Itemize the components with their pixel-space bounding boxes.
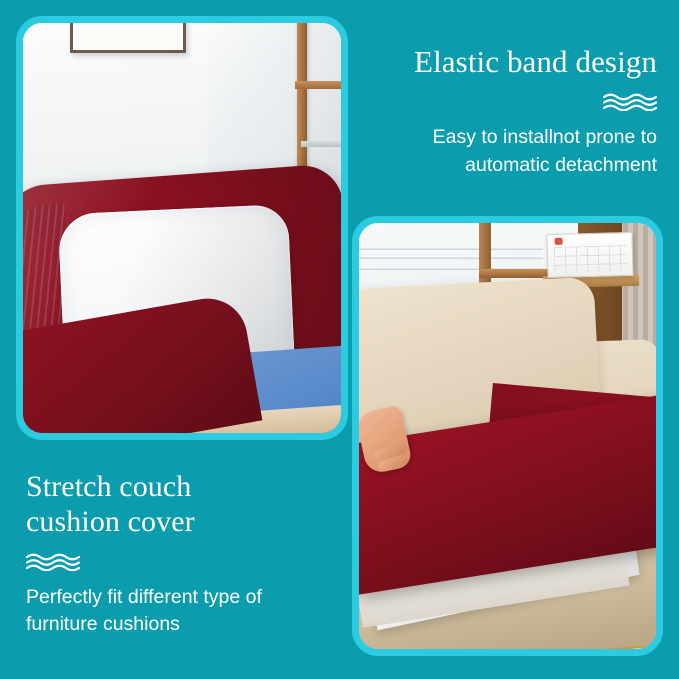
- picture-frame: [70, 23, 186, 53]
- photo-panel-bottom-right[interactable]: [352, 216, 663, 656]
- body-text-top-right-line2: automatic detachment: [369, 152, 657, 180]
- poster-canvas: Elastic band design Easy to installnot p…: [0, 0, 679, 679]
- shelf-edge: [301, 141, 341, 147]
- wave-divider-icon: [369, 92, 657, 111]
- desk-calendar: [546, 232, 633, 278]
- wooden-shelf: [295, 81, 341, 89]
- text-block-bottom-left: Stretch couch cushion cover Perfectly fi…: [26, 470, 326, 639]
- calendar-marker: [555, 238, 563, 245]
- body-text-top-right-line1: Easy to installnot prone to: [369, 124, 657, 152]
- wall-molding-line: [359, 247, 543, 250]
- burgundy-cushion-elastic-band-photo: [23, 23, 341, 433]
- headline-stretch-couch-line1: Stretch couch: [26, 470, 326, 505]
- body-text-bottom-left-line1: Perfectly fit different type of: [26, 584, 326, 612]
- headline-elastic-band-design: Elastic band design: [369, 44, 657, 80]
- text-block-top-right: Elastic band design Easy to installnot p…: [369, 44, 657, 179]
- calendar-grid: [554, 245, 628, 273]
- headline-stretch-couch-line2: cushion cover: [26, 505, 326, 540]
- body-text-bottom-left-line2: furniture cushions: [26, 611, 326, 639]
- wall-molding-line: [359, 256, 543, 259]
- hand-stretching-cover-photo: [359, 223, 656, 649]
- photo-panel-top-left[interactable]: [16, 16, 348, 440]
- wave-divider-icon: [26, 552, 326, 571]
